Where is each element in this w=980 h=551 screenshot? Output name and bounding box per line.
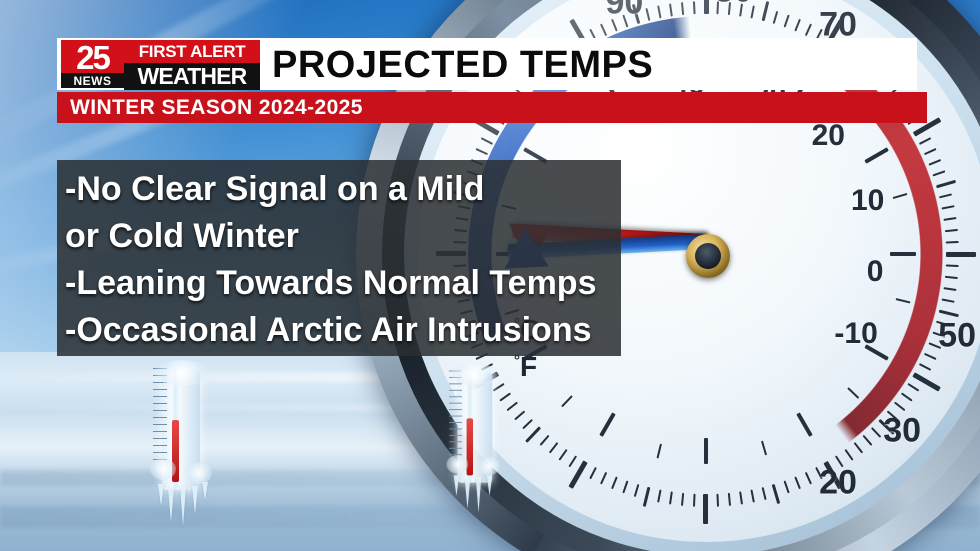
forecast-bullet-panel: -No Clear Signal on a Mild or Cold Winte… <box>57 160 621 356</box>
logo-first-alert: FIRST ALERT <box>124 40 260 63</box>
frost-blob <box>446 455 468 473</box>
logo-channel-block: 25 NEWS <box>61 40 124 88</box>
frost-blob <box>186 462 212 484</box>
gauge-fahrenheit-number: 50 <box>938 316 976 355</box>
gauge-fahrenheit-number: 30 <box>883 411 921 450</box>
logo-news-word: NEWS <box>61 73 124 88</box>
page-title: PROJECTED TEMPS <box>272 44 653 87</box>
icy-thermometer-left <box>150 362 212 542</box>
gauge-celsius-number: 20 <box>812 119 845 153</box>
gauge-fahrenheit-number: 80 <box>715 0 753 11</box>
icy-thermometer-middle <box>446 365 499 526</box>
gauge-fahrenheit-number: 90 <box>605 0 643 22</box>
gauge-celsius-number: 0 <box>867 255 884 289</box>
list-item: -No Clear Signal on a Mild <box>65 166 621 213</box>
list-item: or Cold Winter <box>65 213 621 260</box>
list-item: -Occasional Arctic Air Intrusions <box>65 307 621 354</box>
header-subtitle: WINTER SEASON 2024-2025 <box>70 96 363 120</box>
gauge-center-hub <box>686 234 730 278</box>
gauge-celsius-number: 10 <box>851 184 884 218</box>
forecast-bullet-list: -No Clear Signal on a Mild or Cold Winte… <box>57 160 621 354</box>
frost-blob <box>478 457 500 475</box>
station-logo: 25 NEWS FIRST ALERT WEATHER <box>61 40 260 88</box>
gauge-fahrenheit-number: 20 <box>819 463 857 502</box>
gauge-celsius-number: -10 <box>834 317 877 351</box>
list-item: -Leaning Towards Normal Temps <box>65 260 621 307</box>
frost-blob <box>150 458 176 480</box>
frost-cap <box>154 360 210 386</box>
logo-text-block: FIRST ALERT WEATHER <box>124 40 260 88</box>
logo-weather: WEATHER <box>124 63 260 90</box>
frost-cap <box>450 363 498 385</box>
logo-channel-number: 25 <box>76 42 109 73</box>
weather-graphic-stage: -1001020304050203050708090100 °C °F <box>0 0 980 551</box>
